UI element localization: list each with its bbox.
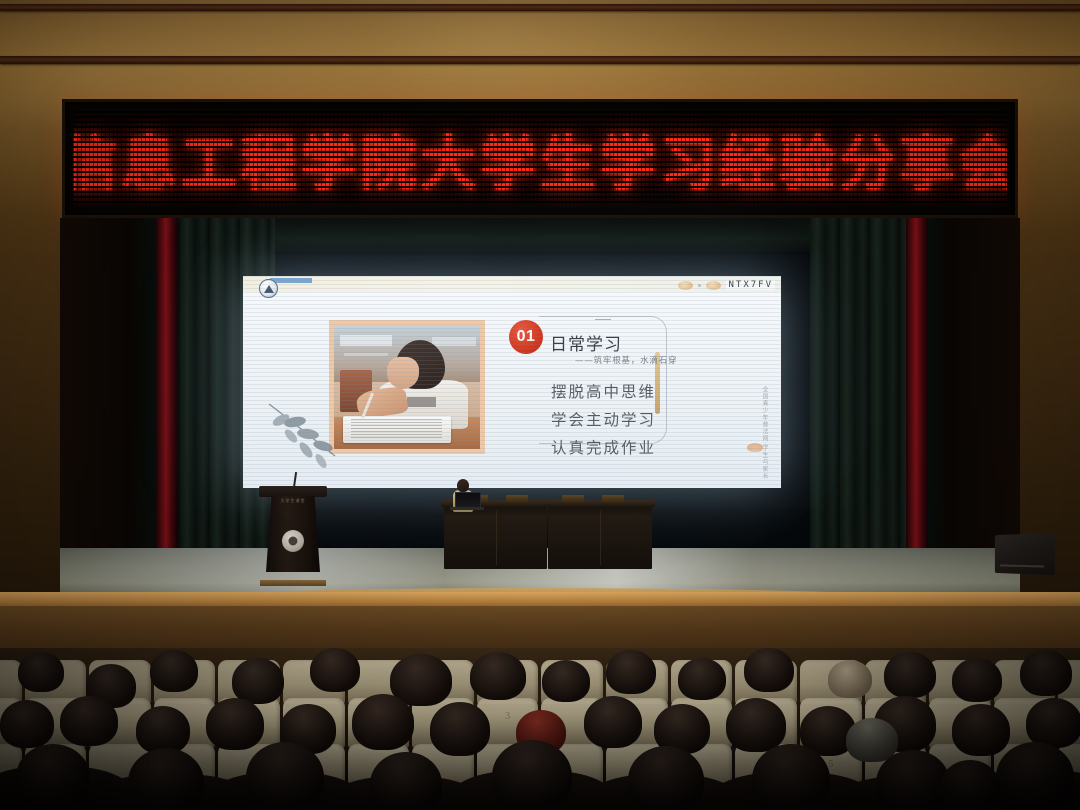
audience-head xyxy=(206,698,264,750)
university-logo-icon xyxy=(259,279,278,298)
audience-head xyxy=(60,696,118,746)
wall-trim-upper xyxy=(0,4,1080,11)
slide-heading: 日常学习 xyxy=(550,330,622,355)
table-seam xyxy=(496,511,497,565)
podium-emblem-icon xyxy=(282,530,304,552)
audience-head xyxy=(752,744,830,810)
photo-shirt-print xyxy=(407,397,436,407)
presentation-slide: NTX7FV xyxy=(243,276,781,488)
audience-head xyxy=(542,660,590,702)
photo-book-lines xyxy=(351,419,442,440)
audience-head xyxy=(492,740,572,810)
presenter-laptop xyxy=(455,492,481,508)
podium: 大学生课堂 xyxy=(262,486,324,582)
slide-subheading: ——筑牢根基，水滴石穿 xyxy=(575,354,677,366)
audience-head xyxy=(952,704,1010,756)
audience-head xyxy=(828,660,872,698)
red-curtain-strip-right xyxy=(906,218,928,563)
table-nameplate xyxy=(562,495,584,503)
slide-dash xyxy=(595,319,611,320)
photo-shelf xyxy=(340,335,393,346)
table-seam xyxy=(600,511,601,565)
red-curtain-strip-left xyxy=(156,218,178,563)
audience-head xyxy=(952,658,1002,702)
slide-photo xyxy=(329,320,485,454)
slide-watermark-code: NTX7FV xyxy=(726,280,775,290)
audience-head xyxy=(1020,650,1072,696)
audience-head xyxy=(136,706,190,754)
audience-head xyxy=(884,652,936,698)
led-banner-screen: 信息工程学院大学生学习经验分享会 xyxy=(73,111,1007,206)
photo-student-face xyxy=(387,357,419,389)
audience-head xyxy=(584,696,642,748)
audience-head xyxy=(744,648,794,692)
audience-head xyxy=(16,744,90,810)
watermark-chip-icon xyxy=(706,281,721,290)
stage-table-right xyxy=(548,505,652,569)
slide-bullet: 摆脱高中思维 xyxy=(551,380,656,402)
watermark-chip-icon xyxy=(678,281,693,290)
slide-watermark-row: NTX7FV xyxy=(678,280,775,290)
audience-head xyxy=(310,648,360,692)
audience-head xyxy=(726,698,786,752)
stage-table-left xyxy=(444,505,547,569)
photo-shelf-right xyxy=(432,337,476,346)
audience-heads xyxy=(0,648,1080,810)
audience-head xyxy=(1026,698,1080,748)
podium-label: 大学生课堂 xyxy=(264,498,322,504)
slide-vertical-note: 全国青少年普法网·学生与家长 xyxy=(760,386,769,480)
slide-bullet: 认真完成作业 xyxy=(551,436,656,458)
audience-area: 3 25 xyxy=(0,648,1080,810)
table-nameplate xyxy=(602,495,624,503)
podium-base xyxy=(260,580,326,586)
slide-bullet-list: 摆脱高中思维 学会主动学习 认真完成作业 xyxy=(551,380,656,458)
stage-loudspeaker xyxy=(995,533,1055,576)
audience-head xyxy=(370,752,442,810)
led-banner: 信息工程学院大学生学习经验分享会 xyxy=(62,99,1018,218)
audience-head xyxy=(678,658,726,700)
audience-head xyxy=(606,650,656,694)
audience-head xyxy=(996,742,1074,810)
presenter-head xyxy=(457,479,469,492)
curtain-shadow-left xyxy=(60,218,160,563)
olive-branch-icon xyxy=(261,398,351,470)
audience-head xyxy=(628,746,704,810)
audience-head xyxy=(352,694,414,750)
audience-head xyxy=(470,652,526,700)
audience-head xyxy=(246,742,324,810)
presenter-laptop-base xyxy=(450,507,484,510)
photo-open-book xyxy=(343,416,451,443)
watermark-dot-icon xyxy=(698,284,701,287)
slide-section-badge: 01 xyxy=(509,320,543,354)
audience-head xyxy=(150,650,198,692)
audience-head xyxy=(940,760,1000,810)
curtain-shadow-right xyxy=(920,218,1020,563)
table-nameplate xyxy=(506,495,528,503)
podium-top xyxy=(259,486,327,497)
audience-head xyxy=(430,702,490,756)
audience-head xyxy=(232,658,284,704)
auditorium-scene: 信息工程学院大学生学习经验分享会 NTX7FV xyxy=(0,0,1080,810)
audience-head xyxy=(18,652,64,692)
audience-head xyxy=(128,748,204,810)
audience-head xyxy=(0,700,54,748)
projection-screen: NTX7FV xyxy=(243,276,781,488)
led-banner-text: 信息工程学院大学生学习经验分享会 xyxy=(73,116,1007,201)
audience-head xyxy=(876,750,950,810)
slide-bullet: 学会主动学习 xyxy=(551,408,656,430)
wall-trim-lower xyxy=(0,56,1080,64)
